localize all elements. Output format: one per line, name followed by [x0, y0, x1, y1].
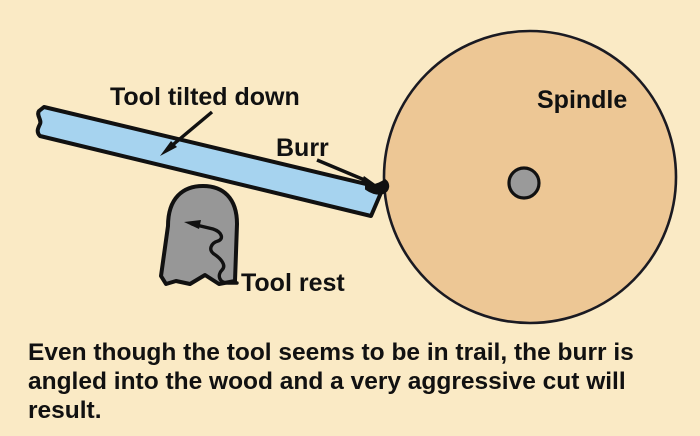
- diagram-canvas: Tool tilted down Burr Spindle Tool rest …: [0, 0, 700, 436]
- label-burr: Burr: [276, 134, 329, 162]
- caption-line-2: angled into the wood and a very aggressi…: [28, 368, 626, 395]
- tool-rest-shape: [161, 186, 237, 284]
- label-tool-rest: Tool rest: [241, 269, 345, 297]
- annotation-spindle: Spindle: [537, 86, 627, 114]
- spindle-group: [384, 31, 676, 323]
- label-spindle: Spindle: [537, 86, 627, 114]
- label-tool-tilted-down: Tool tilted down: [110, 83, 300, 111]
- caption-line-1: Even though the tool seems to be in trai…: [28, 339, 634, 366]
- tool-rest-group: [161, 186, 237, 284]
- figure-root: Tool tilted down Burr Spindle Tool rest …: [0, 0, 700, 436]
- spindle-hub-icon: [509, 168, 539, 198]
- caption-line-3: result.: [28, 397, 102, 424]
